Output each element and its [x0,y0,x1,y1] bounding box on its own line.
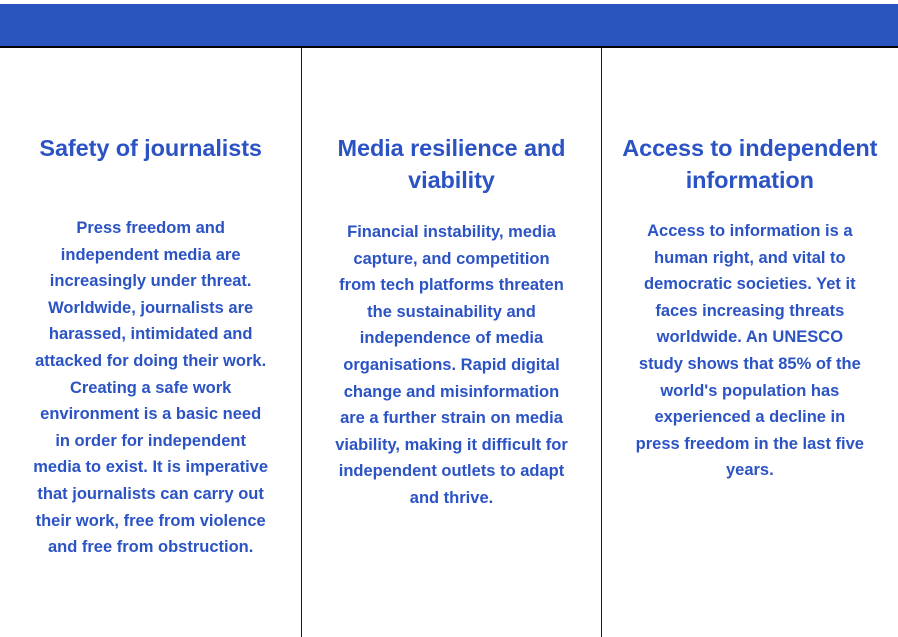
column-safety-of-journalists: Safety of journalists Press freedom and … [0,48,301,637]
page-root: Safety of journalists Press freedom and … [0,0,898,637]
top-banner [0,4,898,46]
column-body-access-to-independent-information: Access to information is a human right, … [633,218,866,484]
column-media-resilience-and-viability: Media resilience and viability Financial… [302,48,600,637]
column-title-media-resilience-and-viability: Media resilience and viability [327,132,575,196]
column-title-safety-of-journalists: Safety of journalists [25,132,277,164]
column-title-access-to-independent-information: Access to independent information [621,132,879,196]
column-body-media-resilience-and-viability: Financial instability, media capture, an… [334,219,569,512]
column-access-to-independent-information: Access to independent information Access… [602,48,898,637]
three-column-layout: Safety of journalists Press freedom and … [0,48,898,637]
column-body-safety-of-journalists: Press freedom and independent media are … [31,215,271,561]
